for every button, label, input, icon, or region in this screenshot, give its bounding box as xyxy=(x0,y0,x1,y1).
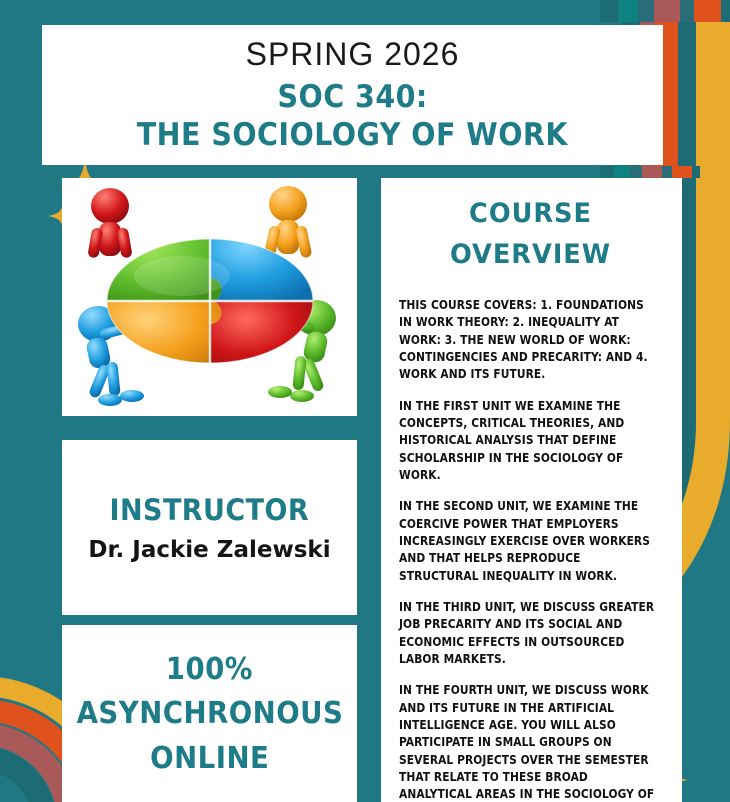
header-panel: SPRING 2026 SOC 340: THE SOCIOLOGY OF WO… xyxy=(42,25,663,165)
overview-paragraph: IN THE SECOND UNIT, WE EXAMINE THE COERC… xyxy=(399,498,656,585)
top-stripe-accents xyxy=(600,0,730,22)
overview-heading-line1: COURSE xyxy=(400,194,661,235)
instructor-label: INSTRUCTOR xyxy=(110,493,310,527)
overview-heading-line2: OVERVIEW xyxy=(400,235,661,276)
course-flyer: SPRING 2026 SOC 340: THE SOCIOLOGY OF WO… xyxy=(0,0,730,802)
modality-async: ASYNCHRONOUS xyxy=(76,695,343,733)
overview-paragraph: THIS COURSE COVERS: 1. FOUNDATIONS IN WO… xyxy=(399,297,656,384)
overview-paragraph: IN THE FIRST UNIT WE EXAMINE THE CONCEPT… xyxy=(399,398,656,485)
artwork-panel xyxy=(62,178,357,416)
course-overview-panel: COURSE OVERVIEW THIS COURSE COVERS: 1. F… xyxy=(381,178,682,802)
term-label: SPRING 2026 xyxy=(246,37,460,72)
mid-stripe-accents xyxy=(600,166,700,178)
course-title: THE SOCIOLOGY OF WORK xyxy=(137,118,568,154)
instructor-name: Dr. Jackie Zalewski xyxy=(88,537,330,563)
course-overview-heading: COURSE OVERVIEW xyxy=(400,194,661,275)
course-code: SOC 340: xyxy=(277,80,427,116)
instructor-panel: INSTRUCTOR Dr. Jackie Zalewski xyxy=(62,440,357,615)
teamwork-puzzle-illustration xyxy=(62,178,357,416)
modality-percent: 100% xyxy=(166,651,253,689)
modality-panel: 100% ASYNCHRONOUS ONLINE xyxy=(62,625,357,802)
overview-paragraph: IN THE FOURTH UNIT, WE DISCUSS WORK AND … xyxy=(399,682,656,802)
modality-online: ONLINE xyxy=(150,740,269,778)
course-overview-body: THIS COURSE COVERS: 1. FOUNDATIONS IN WO… xyxy=(393,297,668,802)
overview-paragraph: IN THE THIRD UNIT, WE DISCUSS GREATER JO… xyxy=(399,599,656,668)
